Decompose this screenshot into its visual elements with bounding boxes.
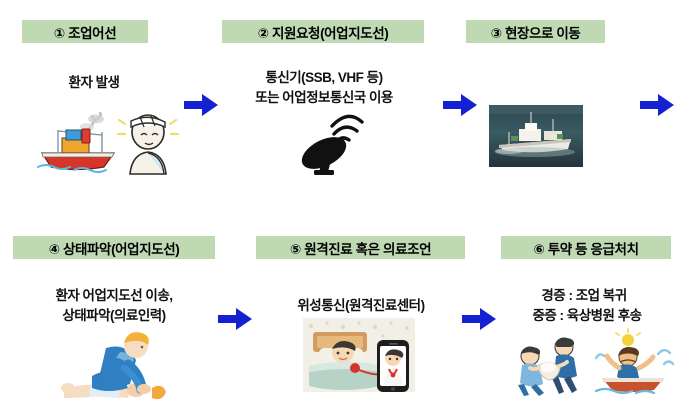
telemedicine-illustration <box>303 318 415 398</box>
step-caption-5: 위성통신(원격진료센터) <box>258 296 464 315</box>
step-header-1: ① 조업어선 <box>22 20 148 43</box>
arrow-step2-to-step3 <box>443 92 477 118</box>
step-header-2: ② 지원요청(어업지도선) <box>222 20 424 43</box>
satellite-dish-icon <box>300 120 362 178</box>
step-header-6: ⑥ 투약 등 응급처치 <box>501 236 671 259</box>
fisheries-guidance-vessel-photo <box>489 105 583 167</box>
step-caption-2-line1: 통신기(SSB, VHF 등) <box>215 68 433 87</box>
stretcher-carriers-illustration <box>512 334 594 396</box>
first-aid-cpr-illustration <box>62 330 180 406</box>
step-caption-4-line1: 환자 어업지도선 이송, <box>10 286 218 305</box>
step-caption-4-line2: 상태파악(의료인력) <box>18 306 210 325</box>
arrow-step1-to-step2 <box>184 92 218 118</box>
process-diagram: ① 조업어선 ② 지원요청(어업지도선) ③ 현장으로 이동 환자 발생 통신기… <box>0 0 680 412</box>
step-header-4: ④ 상태파악(어업지도선) <box>13 236 215 259</box>
rescue-boat-crew-illustration <box>594 332 674 396</box>
step-caption-2-line2: 또는 어업정보통신국 이용 <box>207 88 441 107</box>
fishing-boat-illustration <box>34 112 120 174</box>
step-header-3: ③ 현장으로 이동 <box>466 20 605 43</box>
arrow-row1-wrap <box>640 92 674 118</box>
step-caption-6-line1: 경증 : 조업 복귀 <box>494 286 674 305</box>
step-caption-1: 환자 발생 <box>28 73 160 92</box>
step-caption-6-line2: 중증 : 육상병원 후송 <box>494 306 680 325</box>
arrow-step4-to-step5 <box>218 306 252 332</box>
arrow-step5-to-step6 <box>462 306 496 332</box>
injured-crew-member-illustration <box>118 108 178 174</box>
step-header-5: ⑤ 원격진료 혹은 의료조언 <box>256 236 465 259</box>
